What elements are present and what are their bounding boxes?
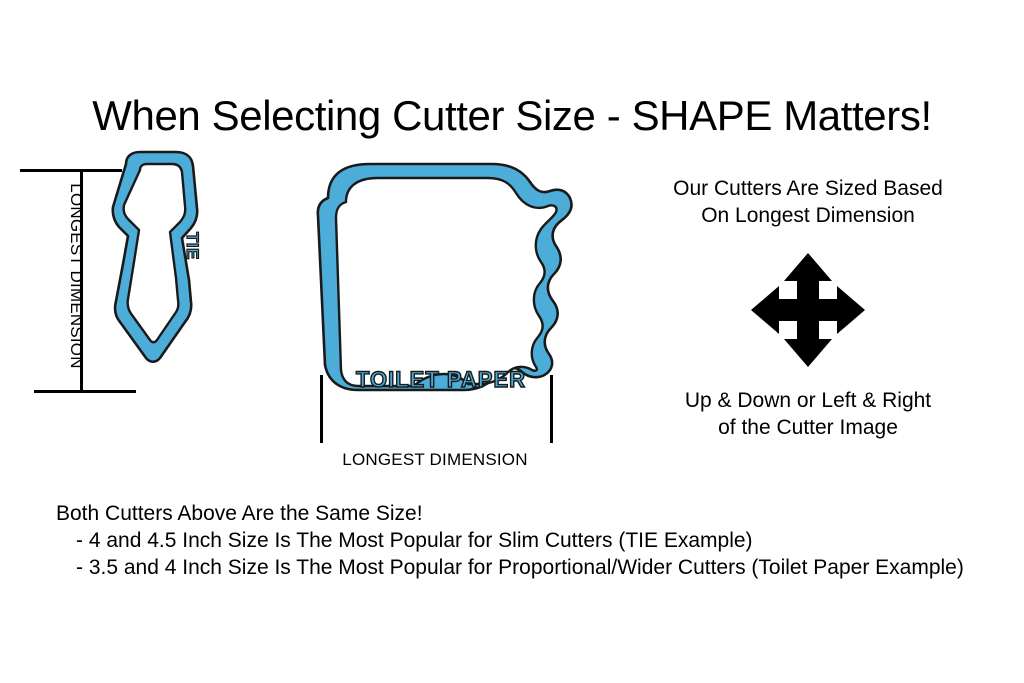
note-line-2: - 4 and 4.5 Inch Size Is The Most Popula… bbox=[56, 527, 1016, 554]
tie-cutter-shape: TIE bbox=[90, 150, 218, 408]
four-way-arrow-wrap bbox=[608, 251, 1008, 369]
tie-dimension-label: LONGEST DIMENSION bbox=[66, 161, 86, 391]
explanation-bottom-line-2: of the Cutter Image bbox=[608, 414, 1008, 441]
infographic-canvas: When Selecting Cutter Size - SHAPE Matte… bbox=[0, 0, 1024, 683]
explanation-top-text: Our Cutters Are Sized Based On Longest D… bbox=[608, 175, 1008, 229]
note-line-1: Both Cutters Above Are the Same Size! bbox=[56, 500, 1016, 527]
toilet-paper-dimension-tick-right bbox=[550, 375, 553, 443]
explanation-column: Our Cutters Are Sized Based On Longest D… bbox=[608, 175, 1008, 441]
explanation-top-line-2: On Longest Dimension bbox=[608, 202, 1008, 229]
page-title: When Selecting Cutter Size - SHAPE Matte… bbox=[0, 92, 1024, 140]
toilet-paper-dimension-label: LONGEST DIMENSION bbox=[310, 450, 560, 470]
explanation-bottom-line-1: Up & Down or Left & Right bbox=[608, 387, 1008, 414]
tie-cutter-group: LONGEST DIMENSION TIE bbox=[18, 150, 278, 412]
note-line-3: - 3.5 and 4 Inch Size Is The Most Popula… bbox=[56, 554, 1016, 581]
toilet-paper-longest-dimension-bracket: LONGEST DIMENSION bbox=[296, 160, 586, 480]
toilet-paper-cutter-group: TOILET PAPER LONGEST DIMENSION bbox=[296, 160, 586, 480]
four-way-arrow-icon bbox=[733, 251, 883, 369]
toilet-paper-dimension-tick-left bbox=[320, 375, 323, 443]
tie-shape-label: TIE bbox=[183, 232, 202, 260]
notes-block: Both Cutters Above Are the Same Size! - … bbox=[56, 500, 1016, 581]
explanation-bottom-text: Up & Down or Left & Right of the Cutter … bbox=[608, 387, 1008, 441]
explanation-top-line-1: Our Cutters Are Sized Based bbox=[608, 175, 1008, 202]
